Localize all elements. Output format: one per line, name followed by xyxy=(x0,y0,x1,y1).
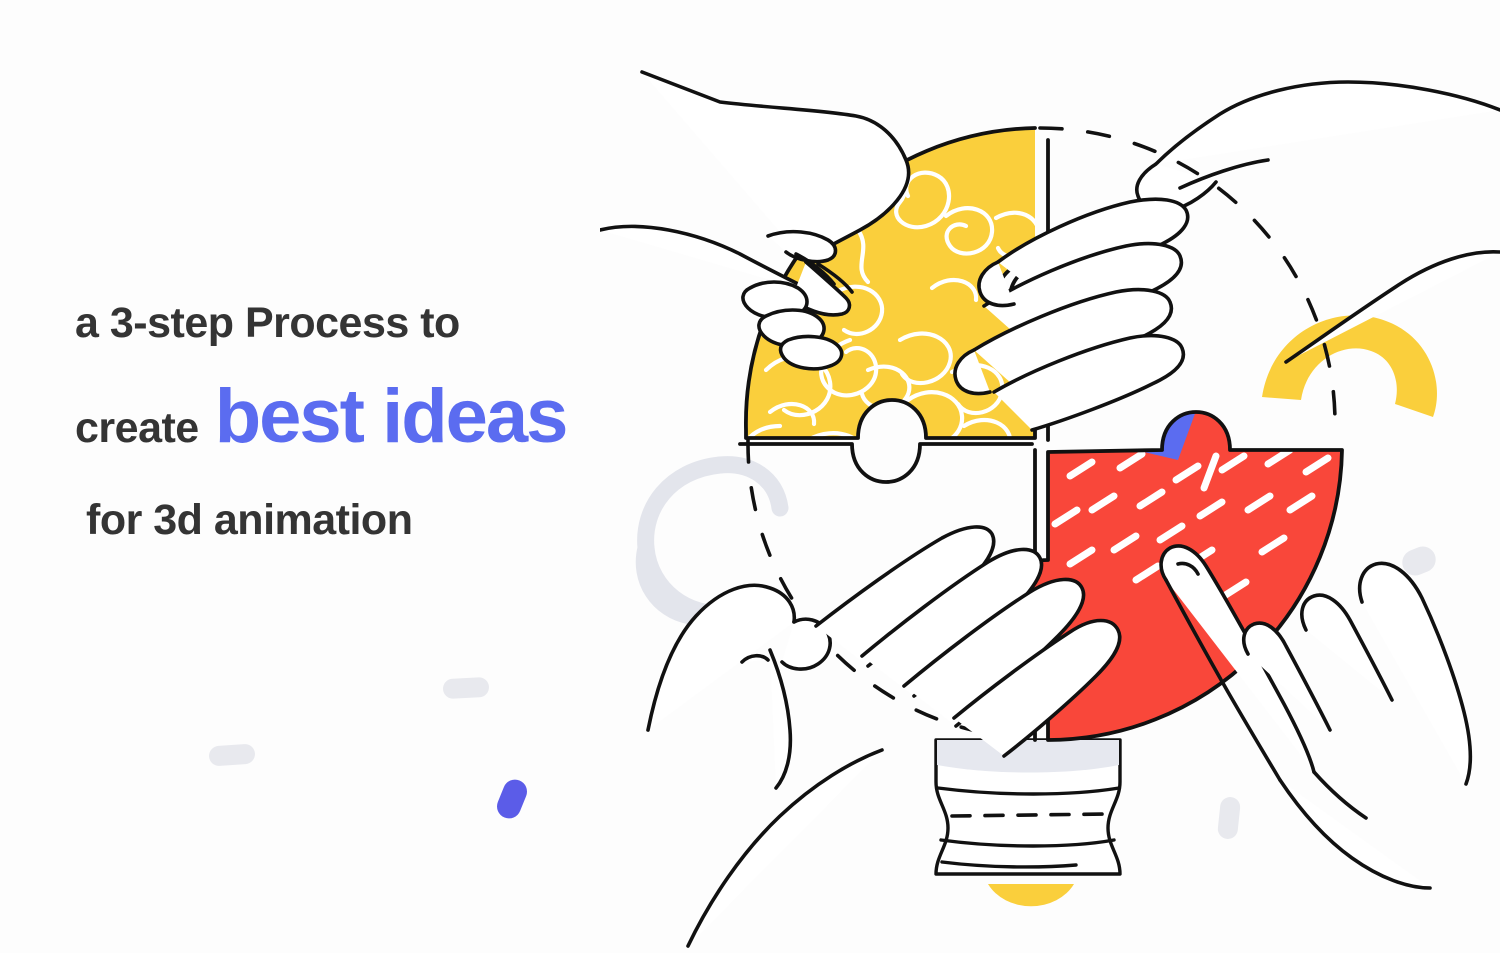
lightbulb-puzzle-illustration xyxy=(600,40,1500,953)
headline-line-3: for 3d animation xyxy=(72,493,712,547)
deco-pill-1 xyxy=(208,743,255,766)
banner-root: a 3-step Process to create best ideas fo… xyxy=(0,0,1500,953)
hand-bottom-right-icon xyxy=(1161,546,1470,888)
bulb-socket-icon xyxy=(936,740,1120,906)
deco-pill-3 xyxy=(493,776,530,822)
deco-pill-2 xyxy=(443,677,490,699)
headline-accent-text: best ideas xyxy=(215,378,567,456)
headline-line-2-prefix: create xyxy=(75,389,199,467)
yellow-arc-icon xyxy=(1262,315,1437,417)
headline-line-1: a 3-step Process to xyxy=(72,296,712,350)
headline-line-2: create best ideas xyxy=(72,378,712,467)
headline-block: a 3-step Process to create best ideas fo… xyxy=(72,296,712,547)
